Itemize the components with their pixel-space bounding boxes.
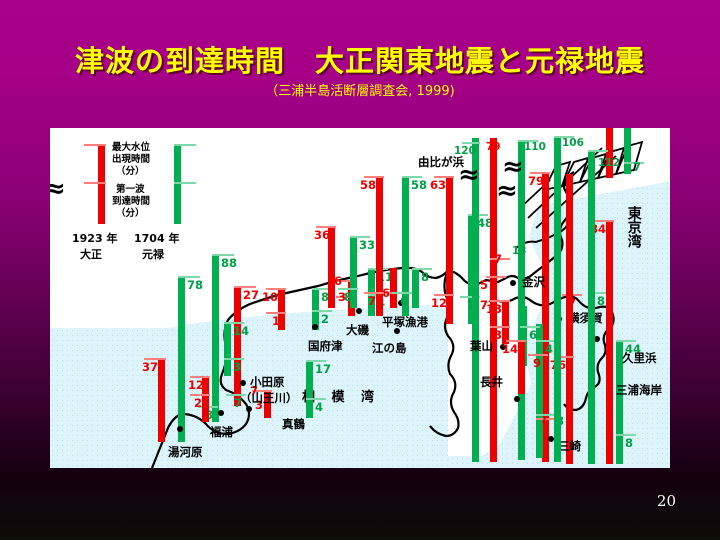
value-58b: 58 [411,180,427,192]
bar-kurihama-genroku [624,128,631,174]
value-88: 88 [221,258,237,270]
bar-yugawara-taisho [158,358,165,442]
value-8d: 8 [344,292,352,304]
value-8g: 8 [625,438,633,450]
value-4a: 4 [315,402,323,414]
legend-taisho-mid-tick [84,182,106,184]
page-title: 津波の到達時間 大正関東地震と元禄地震 [0,38,720,80]
marker-odawara [240,380,246,386]
bar-miurakaigan-taisho [606,220,613,464]
bar-manazuru-west-taisho [234,286,241,406]
value-6d: 6 [529,330,537,342]
place-fukura: 福浦 [210,426,233,439]
place-odawara: 小田原 [250,376,285,389]
bar-hayama-taisho [502,300,509,344]
value-10: 10 [262,292,278,304]
legend-first-wave-line3: （分） [116,208,145,220]
legend-taisho-era: 大正 [80,248,102,263]
legend-genroku-era: 元禄 [142,248,164,263]
place-odawara-river: （山王川） [240,392,298,405]
tick-kamakura-off-genroku [462,142,480,144]
legend-max-level-line1: 最大水位 [112,142,150,154]
value-2: 2 [194,398,202,410]
value-7c: 7 [368,296,376,308]
legend-first-wave-line2: 到達時間 [112,196,150,208]
value-33: 33 [359,240,375,252]
place-miurakaigan: 三浦海岸 [616,384,662,397]
value-79b: 79 [528,176,544,188]
place-kouzu: 国府津 [308,340,343,353]
legend-taisho-year: 1923 年 [72,232,117,247]
legend-max-level-line3: （分） [116,166,145,178]
value-79a: 79 [486,142,501,153]
value-112: 112 [598,158,620,169]
value-63: 63 [430,180,446,192]
tokyo-bay-label: 東京湾 [622,206,644,248]
bar-hiratsuka-taisho [390,268,397,308]
value-9: 9 [533,358,541,370]
bar-kanazawa-genroku [518,140,525,460]
value-8e: 8 [597,296,605,308]
value-17: 17 [315,364,331,376]
value-3b: 3 [233,362,241,374]
slide-canvas: 津波の到達時間 大正関東地震と元禄地震 （三浦半島活断層調査会, 1999) 2… [0,0,720,540]
value-78: 78 [187,280,203,292]
bar-yuigahama-taisho [446,176,453,324]
value-37: 37 [142,362,158,374]
value-12: 12 [188,380,204,392]
break-symbol-2: ≈ [50,176,66,202]
bar-tokyobay-genroku-112 [588,150,595,464]
marker-nagai [514,396,520,402]
bar-yokosuka-genroku-42 [536,324,543,458]
value-1: 1 [272,316,280,328]
break-symbol-4: ≈ [496,178,518,204]
marker-yugawara [177,426,183,432]
value-8c: 8 [421,272,429,284]
value-106: 106 [562,138,584,149]
legend-taisho-top-tick [84,144,106,146]
bar-kurihama-taisho [606,128,613,178]
place-misaki: 三崎 [558,440,581,453]
legend-max-level-line2: 出現時間 [112,154,150,166]
value-120: 120 [454,146,476,157]
bar-yokosuka-taisho-76 [566,174,573,464]
value-14a: 14 [233,326,249,338]
marker-kanazawa [510,280,516,286]
bar-hiratsuka-genroku [412,268,419,308]
marker-manazuru [246,406,252,412]
value-57: 57 [480,280,496,292]
marker-oiso [356,308,362,314]
break-symbol-1: ≈ [458,162,480,188]
value-2b: 2 [321,314,329,326]
value-7-kurihama: 7 [633,162,641,174]
page-subtitle: （三浦半島活断層調査会, 1999) [0,80,720,99]
legend-genroku-mid-tick [174,182,196,184]
value-6c: 6 [400,296,408,308]
value-13b: 13 [486,304,502,316]
tick-misaki-genroku [536,414,556,416]
page-number: 20 [657,492,676,510]
value-12b: 12 [431,298,447,310]
place-oiso: 大磯 [346,324,369,337]
bar-tokyobay-genroku-106 [554,136,561,462]
legend-genroku-year: 1704 年 [134,232,179,247]
place-enoshima: 江の島 [372,342,407,355]
place-kurihama: 久里浜 [622,352,657,365]
sagami-bay-label: 相 模 湾 [302,386,380,405]
value-7e: 7 [494,254,502,266]
place-hiratsuka: 平塚漁港 [382,316,428,329]
legend-first-wave-line1: 第一波 [116,184,145,196]
tick-tokyobay-genroku-112 [588,150,608,152]
bar-manazuru-genroku [306,360,313,418]
value-58a: 58 [360,180,376,192]
place-nagai: 長井 [480,376,503,389]
value-36: 36 [314,230,330,242]
value-13: 13 [512,246,527,257]
marker-fukura [218,410,224,416]
value-14b: 14 [502,344,518,356]
marker-enoshima [394,328,400,334]
value-27: 27 [243,290,259,302]
value-110: 110 [524,142,546,153]
bar-nagai-taisho [518,340,525,394]
legend-genroku-top-tick [174,144,196,146]
legend-taisho-bar [98,144,105,224]
place-kanazawa: 金沢 [522,276,545,289]
legend-genroku-bar [174,144,181,224]
bar-yugawara-genroku [178,276,185,442]
bar-fukura-genroku [212,254,219,422]
tsunami-arrival-time-map: 最大水位 出現時間 （分） 第一波 到達時間 （分） 1923 年 1704 年… [50,128,670,468]
place-manazuru: 真鶴 [282,418,305,431]
place-yugawara: 湯河原 [168,446,203,459]
place-hayama: 葉山 [470,340,493,353]
place-yokosuka: 横須賀 [568,312,603,325]
value-6a: 6 [334,276,342,288]
bar-odawara-genroku [224,322,231,376]
bar-enoshima-west-taisho [376,176,383,316]
value-3d: 3 [494,330,502,342]
marker-kouzu [312,324,318,330]
